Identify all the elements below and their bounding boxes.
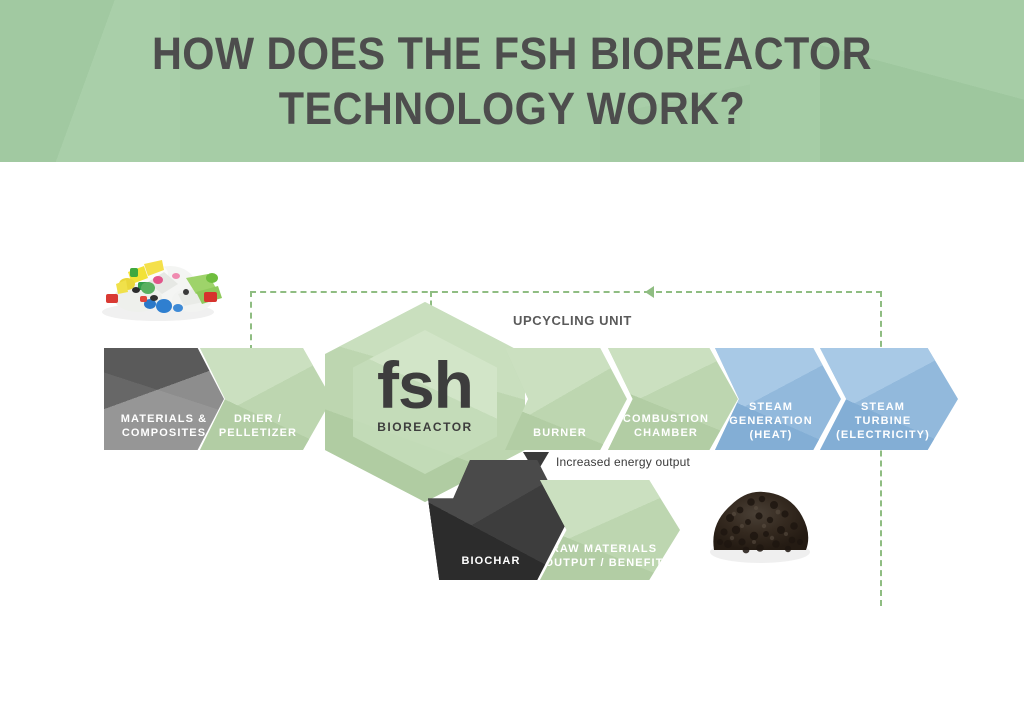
header-banner: HOW DOES THE FSH BIOREACTOR TECHNOLOGY W… xyxy=(0,0,1024,162)
output-label: RAW MATERIALS OUTPUT / BENEFIT xyxy=(540,542,680,570)
increased-energy-label: Increased energy output xyxy=(556,455,690,469)
recycle-loop-left-vertical xyxy=(250,291,252,351)
stage-label: DRIER / PELLETIZER xyxy=(200,412,332,440)
upcycling-unit-label: UPCYCLING UNIT xyxy=(513,313,632,328)
output-label: BIOCHAR xyxy=(428,554,568,568)
process-flow: UPCYCLING UNIT MATERIALS & COMPOSITES DR… xyxy=(0,162,1024,724)
fsh-logo-subtext: BIOREACTOR xyxy=(325,420,525,434)
infographic-canvas: HOW DOES THE FSH BIOREACTOR TECHNOLOGY W… xyxy=(0,0,1024,724)
plastic-waste-image xyxy=(92,254,222,324)
stage-materials-composites[interactable]: MATERIALS & COMPOSITES xyxy=(104,348,224,450)
recycle-loop-arrow-left-icon xyxy=(645,286,654,298)
stage-label: COMBUSTION CHAMBER xyxy=(608,412,738,440)
page-title: HOW DOES THE FSH BIOREACTOR TECHNOLOGY W… xyxy=(41,26,983,136)
biochar-pile-image xyxy=(696,472,826,572)
recycle-loop-top-left-segment xyxy=(250,291,650,293)
stage-combustion-chamber[interactable]: COMBUSTION CHAMBER xyxy=(608,348,738,450)
biochar-pile-svg xyxy=(696,472,826,572)
fsh-logo-text: fsh xyxy=(325,352,525,418)
recycle-loop-top-right-segment xyxy=(656,291,882,293)
plastic-waste-svg xyxy=(92,254,222,324)
stage-label: STEAM TURBINE (ELECTRICITY) xyxy=(820,400,958,442)
stage-label: MATERIALS & COMPOSITES xyxy=(104,412,224,440)
